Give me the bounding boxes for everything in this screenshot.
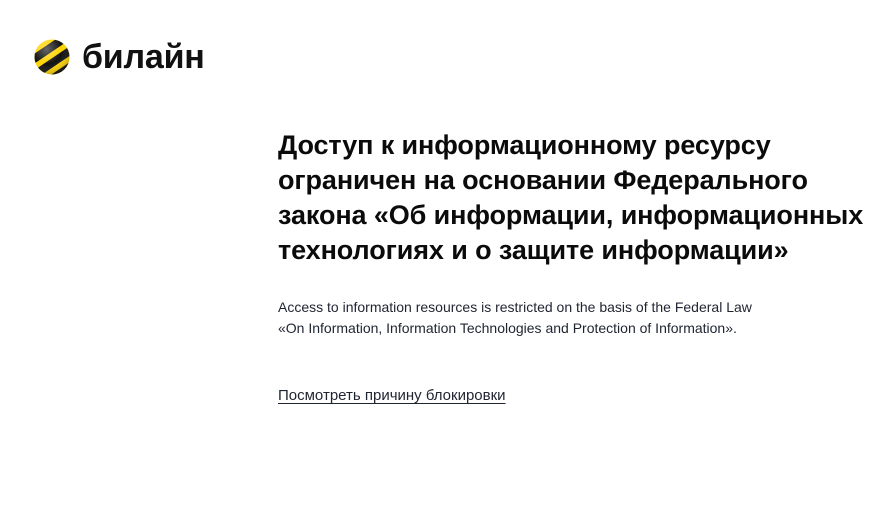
headline-line-3: закона «Об информации, информационных [278, 198, 838, 233]
headline-line-4: технологиях и о защите информации» [278, 233, 838, 268]
content-column: Доступ к информационному ресурсу огранич… [278, 128, 838, 406]
beeline-bee-sphere-icon [33, 38, 71, 76]
page-title: Доступ к информационному ресурсу огранич… [278, 128, 838, 268]
reason-link-container: Посмотреть причину блокировки [278, 339, 838, 406]
subtext-line-2: «On Information, Information Technologie… [278, 318, 838, 339]
brand-logo[interactable]: билайн [33, 38, 205, 76]
headline-line-2: ограничен на основании Федерального [278, 163, 838, 198]
english-subtext: Access to information resources is restr… [278, 268, 838, 339]
headline-line-1: Доступ к информационному ресурсу [278, 128, 838, 163]
block-page: билайн Доступ к информационному ресурсу … [0, 0, 891, 516]
brand-wordmark: билайн [82, 38, 205, 76]
subtext-line-1: Access to information resources is restr… [278, 297, 838, 318]
view-block-reason-link[interactable]: Посмотреть причину блокировки [278, 387, 506, 404]
